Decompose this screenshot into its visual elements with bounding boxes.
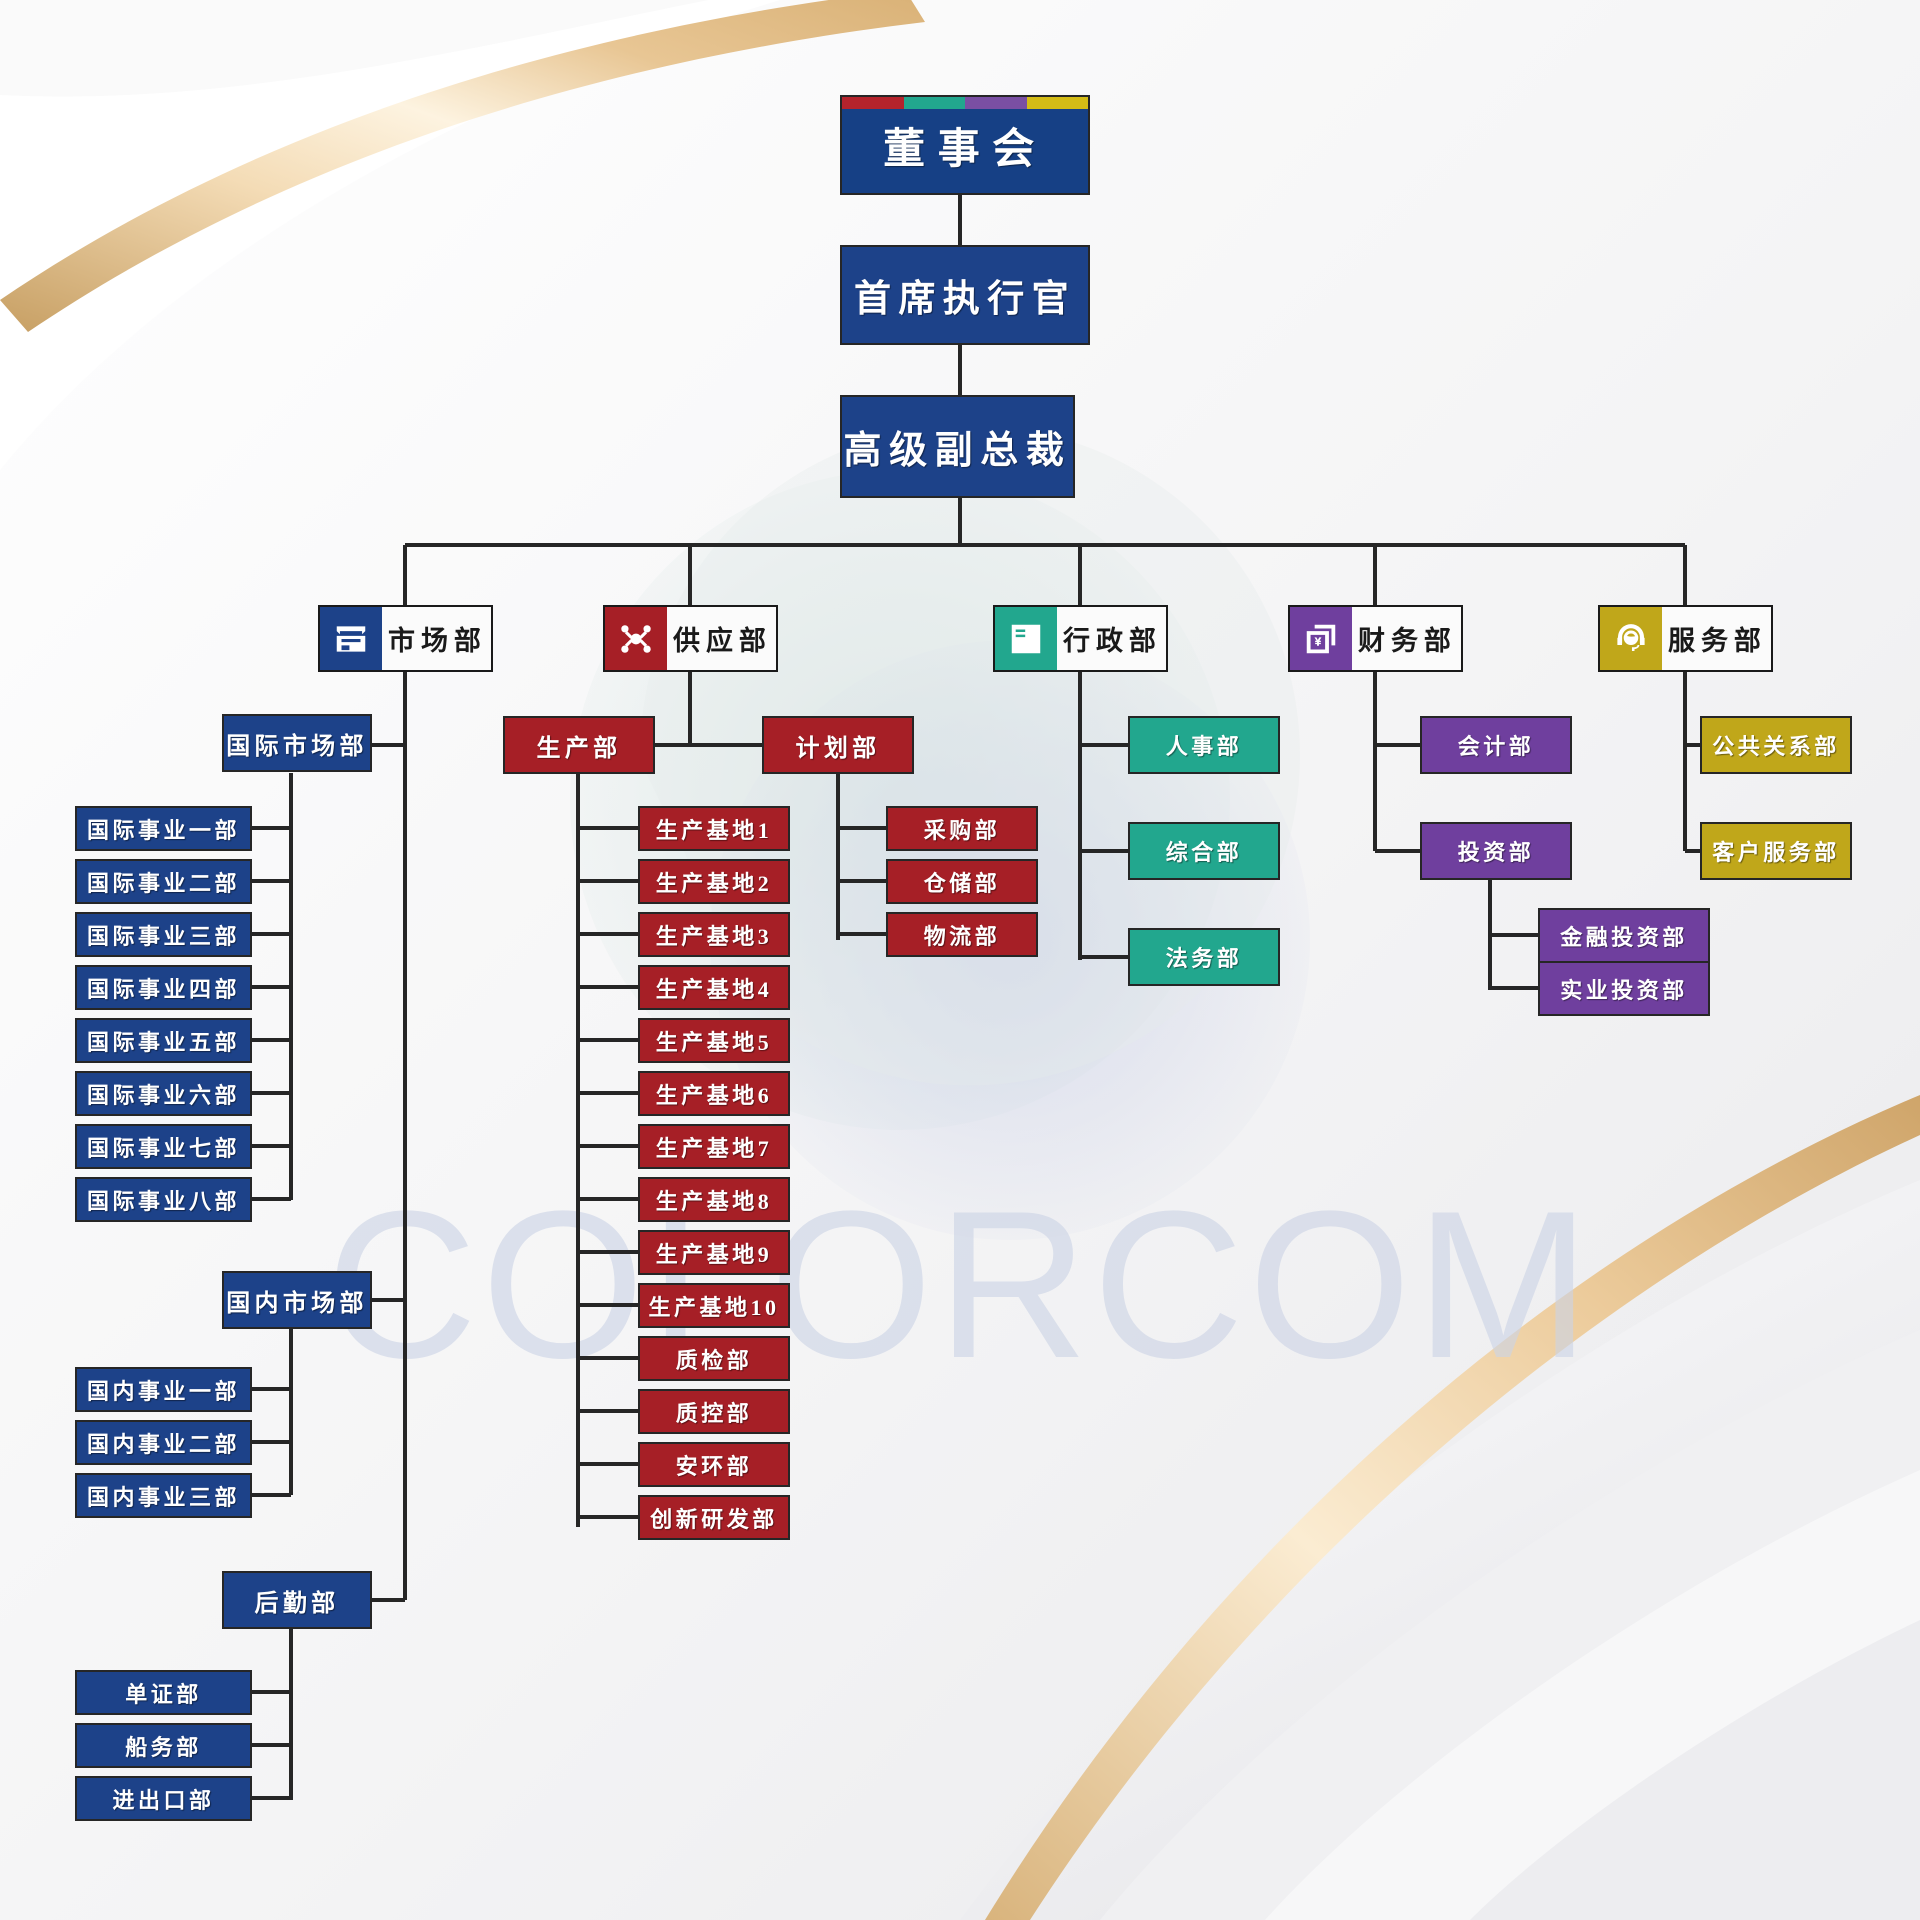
node-intl-5-label: 国际事业五部	[87, 1025, 240, 1057]
node-investment[interactable]: 投资部	[1420, 822, 1572, 880]
node-production-dept[interactable]: 生产部	[503, 716, 655, 774]
node-domestic-market-label: 国内市场部	[226, 1283, 368, 1318]
node-log-3[interactable]: 进出口部	[75, 1776, 252, 1821]
node-intl-2[interactable]: 国际事业二部	[75, 859, 252, 904]
id-card-icon	[995, 607, 1057, 670]
node-svp[interactable]: 高级副总裁	[840, 395, 1075, 498]
node-log-1-label: 单证部	[125, 1677, 202, 1709]
node-dom-2[interactable]: 国内事业二部	[75, 1420, 252, 1465]
node-prod-6-label: 生产基地6	[656, 1078, 773, 1110]
node-safety-env[interactable]: 安环部	[638, 1442, 790, 1487]
node-legal[interactable]: 法务部	[1128, 928, 1280, 986]
node-customer-service[interactable]: 客户服务部	[1700, 822, 1852, 880]
node-international-market-label: 国际市场部	[226, 726, 368, 761]
dept-header-marketing-label: 市场部	[382, 607, 493, 670]
node-intl-5[interactable]: 国际事业五部	[75, 1018, 252, 1063]
node-prod-7[interactable]: 生产基地7	[638, 1124, 790, 1169]
node-logistics-dept[interactable]: 后勤部	[222, 1571, 372, 1629]
node-intl-2-label: 国际事业二部	[87, 866, 240, 898]
dept-header-administration-label: 行政部	[1057, 607, 1168, 670]
node-prod-2[interactable]: 生产基地2	[638, 859, 790, 904]
node-production-dept-label: 生产部	[537, 728, 622, 763]
node-prod-4-label: 生产基地4	[656, 972, 773, 1004]
node-board[interactable]: 董事会	[840, 95, 1090, 195]
board-color-stripe	[842, 97, 1088, 109]
node-prod-9-label: 生产基地9	[656, 1237, 773, 1269]
node-qc-control[interactable]: 质控部	[638, 1389, 790, 1434]
node-dom-3[interactable]: 国内事业三部	[75, 1473, 252, 1518]
node-prod-6[interactable]: 生产基地6	[638, 1071, 790, 1116]
node-intl-8[interactable]: 国际事业八部	[75, 1177, 252, 1222]
node-prod-5[interactable]: 生产基地5	[638, 1018, 790, 1063]
node-dom-3-label: 国内事业三部	[87, 1480, 240, 1512]
node-hr-label: 人事部	[1166, 729, 1243, 761]
node-logistics-dept-label: 后勤部	[255, 1583, 340, 1618]
node-intl-3[interactable]: 国际事业三部	[75, 912, 252, 957]
node-log-2-label: 船务部	[125, 1730, 202, 1762]
dept-header-finance-label: 财务部	[1352, 607, 1463, 670]
dept-header-finance[interactable]: 财务部	[1288, 605, 1463, 672]
node-logistics[interactable]: 物流部	[886, 912, 1038, 957]
headset-support-icon	[1600, 607, 1662, 670]
node-prod-8-label: 生产基地8	[656, 1184, 773, 1216]
node-innovation-rd[interactable]: 创新研发部	[638, 1495, 790, 1540]
node-prod-4[interactable]: 生产基地4	[638, 965, 790, 1010]
node-innovation-rd-label: 创新研发部	[650, 1502, 778, 1534]
node-intl-1[interactable]: 国际事业一部	[75, 806, 252, 851]
node-planning-dept-label: 计划部	[796, 728, 881, 763]
node-accounting[interactable]: 会计部	[1420, 716, 1572, 774]
node-public-relations[interactable]: 公共关系部	[1700, 716, 1852, 774]
node-dom-1[interactable]: 国内事业一部	[75, 1367, 252, 1412]
node-intl-8-label: 国际事业八部	[87, 1184, 240, 1216]
node-logistics-label: 物流部	[924, 919, 1001, 951]
node-prod-10[interactable]: 生产基地10	[638, 1283, 790, 1328]
node-purchasing-label: 采购部	[924, 813, 1001, 845]
dept-header-service-label: 服务部	[1662, 607, 1773, 670]
dept-header-supply-label: 供应部	[667, 607, 778, 670]
node-safety-env-label: 安环部	[676, 1449, 753, 1481]
node-financial-investment[interactable]: 金融投资部	[1538, 908, 1710, 963]
node-dom-2-label: 国内事业二部	[87, 1427, 240, 1459]
node-prod-8[interactable]: 生产基地8	[638, 1177, 790, 1222]
dept-header-service[interactable]: 服务部	[1598, 605, 1773, 672]
dept-header-supply[interactable]: 供应部	[603, 605, 778, 672]
node-warehouse-label: 仓储部	[924, 866, 1001, 898]
dept-header-administration[interactable]: 行政部	[993, 605, 1168, 672]
node-accounting-label: 会计部	[1458, 729, 1535, 761]
node-prod-7-label: 生产基地7	[656, 1131, 773, 1163]
node-dom-1-label: 国内事业一部	[87, 1374, 240, 1406]
node-warehouse[interactable]: 仓储部	[886, 859, 1038, 904]
node-customer-service-label: 客户服务部	[1712, 835, 1840, 867]
node-prod-1-label: 生产基地1	[656, 813, 773, 845]
network-nodes-icon	[605, 607, 667, 670]
node-investment-label: 投资部	[1458, 835, 1535, 867]
node-svp-label: 高级副总裁	[843, 419, 1071, 474]
node-prod-3-label: 生产基地3	[656, 919, 773, 951]
node-intl-7[interactable]: 国际事业七部	[75, 1124, 252, 1169]
node-intl-1-label: 国际事业一部	[87, 813, 240, 845]
node-industrial-investment[interactable]: 实业投资部	[1538, 961, 1710, 1016]
node-qc-inspect[interactable]: 质检部	[638, 1336, 790, 1381]
node-prod-1[interactable]: 生产基地1	[638, 806, 790, 851]
node-intl-7-label: 国际事业七部	[87, 1131, 240, 1163]
node-qc-control-label: 质控部	[676, 1396, 753, 1428]
node-prod-5-label: 生产基地5	[656, 1025, 773, 1057]
node-board-label: 董事会	[883, 115, 1047, 176]
node-hr[interactable]: 人事部	[1128, 716, 1280, 774]
node-purchasing[interactable]: 采购部	[886, 806, 1038, 851]
node-prod-9[interactable]: 生产基地9	[638, 1230, 790, 1275]
yen-card-icon	[1290, 607, 1352, 670]
node-intl-4[interactable]: 国际事业四部	[75, 965, 252, 1010]
node-intl-6-label: 国际事业六部	[87, 1078, 240, 1110]
node-industrial-investment-label: 实业投资部	[1560, 973, 1688, 1005]
node-financial-investment-label: 金融投资部	[1560, 920, 1688, 952]
storefront-icon	[320, 607, 382, 670]
node-public-relations-label: 公共关系部	[1712, 729, 1840, 761]
node-domestic-market[interactable]: 国内市场部	[222, 1271, 372, 1329]
node-legal-label: 法务部	[1166, 941, 1243, 973]
dept-header-marketing[interactable]: 市场部	[318, 605, 493, 672]
node-prod-3[interactable]: 生产基地3	[638, 912, 790, 957]
node-qc-inspect-label: 质检部	[676, 1343, 753, 1375]
node-prod-2-label: 生产基地2	[656, 866, 773, 898]
node-intl-3-label: 国际事业三部	[87, 919, 240, 951]
node-log-3-label: 进出口部	[112, 1783, 214, 1815]
node-planning-dept[interactable]: 计划部	[762, 716, 914, 774]
node-ceo-label: 首席执行官	[854, 268, 1076, 322]
node-general-label: 综合部	[1166, 835, 1243, 867]
node-ceo[interactable]: 首席执行官	[840, 245, 1090, 345]
node-log-2[interactable]: 船务部	[75, 1723, 252, 1768]
node-log-1[interactable]: 单证部	[75, 1670, 252, 1715]
node-international-market[interactable]: 国际市场部	[222, 714, 372, 772]
node-intl-6[interactable]: 国际事业六部	[75, 1071, 252, 1116]
node-intl-4-label: 国际事业四部	[87, 972, 240, 1004]
node-prod-10-label: 生产基地10	[648, 1290, 779, 1322]
node-general[interactable]: 综合部	[1128, 822, 1280, 880]
